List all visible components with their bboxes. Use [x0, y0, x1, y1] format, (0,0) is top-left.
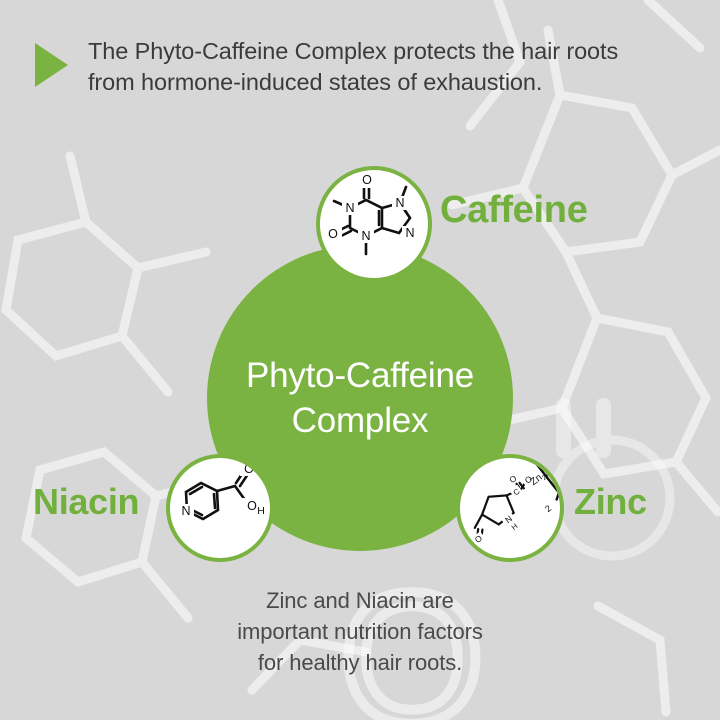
svg-text:H: H [257, 505, 265, 517]
svg-text:O: O [247, 499, 257, 513]
ingredient-label-niacin: Niacin [33, 482, 139, 522]
ingredient-label-caffeine: Caffeine [440, 190, 588, 230]
caffeine-molecule-icon: O O N N N N [320, 170, 428, 278]
svg-text:H: H [510, 522, 520, 532]
footer-line-3: for healthy hair roots. [110, 647, 610, 678]
header-block: The Phyto-Caffeine Complex protects the … [0, 0, 720, 130]
header-line-2: from hormone-induced states of exhaustio… [88, 67, 688, 98]
caffeine-molecule-bubble: O O N N N N [316, 166, 432, 282]
svg-text:N: N [345, 201, 354, 215]
triangle-right-icon [35, 43, 68, 87]
zinc-complex-molecule-icon: O O O N H C Zn 2+ 2 [460, 458, 560, 558]
infographic-canvas: O The Phyto-Caffeine Complex protects th… [0, 0, 720, 720]
zinc-molecule-bubble: O O O N H C Zn 2+ 2 [456, 454, 564, 562]
niacin-molecule-icon: N O O H [170, 458, 270, 558]
svg-text:O: O [244, 462, 254, 476]
center-label-line-1: Phyto-Caffeine [246, 353, 474, 398]
footer-line-1: Zinc and Niacin are [110, 585, 610, 616]
svg-text:O: O [328, 227, 338, 241]
footer-line-2: important nutrition factors [110, 616, 610, 647]
header-statement: The Phyto-Caffeine Complex protects the … [88, 36, 688, 98]
svg-text:N: N [395, 196, 404, 210]
center-label-line-2: Complex [246, 398, 474, 443]
niacin-molecule-bubble: N O O H [166, 454, 274, 562]
footer-statement: Zinc and Niacin are important nutrition … [110, 585, 610, 678]
header-line-1: The Phyto-Caffeine Complex protects the … [88, 36, 688, 67]
ingredient-label-zinc: Zinc [574, 482, 647, 522]
svg-text:N: N [361, 229, 370, 243]
svg-text:2: 2 [543, 503, 553, 514]
svg-text:N: N [181, 504, 190, 518]
center-circle-label: Phyto-Caffeine Complex [246, 353, 474, 443]
svg-text:N: N [405, 226, 414, 240]
svg-text:O: O [362, 173, 372, 187]
